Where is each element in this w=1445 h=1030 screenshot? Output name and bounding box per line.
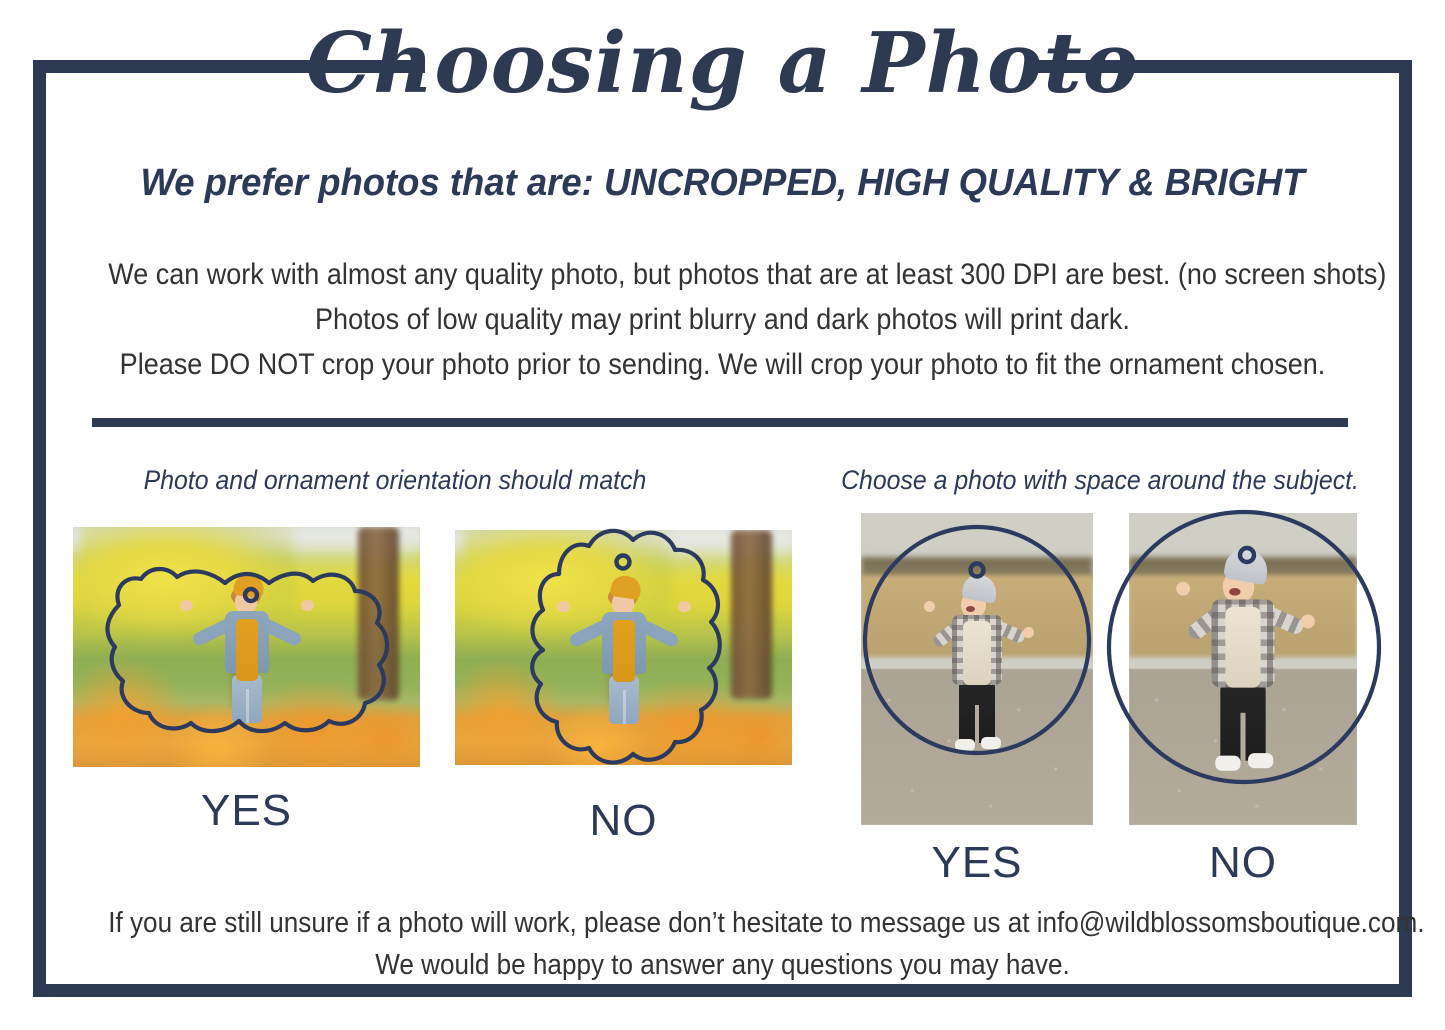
subtitle: We prefer photos that are: UNCROPPED, HI… [29,160,1416,206]
hand-left [1176,582,1190,596]
child-beanie-plaid [1204,549,1282,825]
section-divider [92,418,1348,427]
hand-left [557,601,570,612]
mustard-beanie [609,574,642,600]
tree-trunk [358,527,400,700]
example-photo-orientation-no [455,530,792,765]
dark-pants [959,681,995,743]
intro-line-3: Please DO NOT crop your photo prior to s… [108,342,1337,387]
footer-line-1: If you are still unsure if a photo will … [108,902,1337,944]
intro-line-2: Photos of low quality may print blurry a… [108,297,1337,342]
verdict-spacing-yes: YES [861,838,1093,888]
shoe-right [981,737,1001,749]
jeans [232,675,262,723]
shoe-left [955,739,975,751]
hand-right [1023,627,1034,638]
verdict-orientation-yes: YES [73,786,420,836]
autumn-park-scene [73,527,420,767]
tree-trunk [731,530,771,699]
mustard-shirt [236,619,258,681]
hand-left [180,600,193,611]
open-field-scene [1129,513,1357,825]
intro-paragraph: We can work with almost any quality phot… [40,252,1405,387]
shoe-left [1215,756,1240,771]
mouth [1229,588,1240,596]
hand-right [301,600,314,611]
dark-pants [1220,683,1265,761]
example-photo-spacing-yes [861,513,1093,825]
verdict-spacing-no: NO [1129,838,1357,888]
autumn-park-scene [455,530,792,765]
mustard-beanie [232,573,265,599]
verdict-orientation-no: NO [455,796,792,846]
open-field-scene [861,513,1093,825]
mustard-shirt [613,620,635,682]
page-title: Choosing a Photo [0,15,1445,111]
example-photo-orientation-yes [73,527,420,767]
mouth [966,606,975,612]
cream-top [1225,607,1260,688]
jeans [609,676,639,724]
hand-right [678,601,691,612]
cream-top [963,621,991,685]
child-denim-mustard [225,575,269,725]
footer-line-2: We would be happy to answer any question… [108,944,1337,986]
footer-contact: If you are still unsure if a photo will … [40,902,1405,986]
intro-line-1: We can work with almost any quality phot… [108,252,1337,297]
section-heading-spacing: Choose a photo with space around the sub… [815,465,1385,496]
grey-beanie [961,572,999,604]
hand-right [1301,615,1315,629]
hand-left [924,601,935,612]
shoe-right [1248,753,1273,768]
child-beanie-plaid [952,575,1002,755]
child-denim-mustard [602,576,646,726]
example-photo-spacing-no [1129,513,1357,825]
section-heading-orientation: Photo and ornament orientation should ma… [101,465,690,496]
